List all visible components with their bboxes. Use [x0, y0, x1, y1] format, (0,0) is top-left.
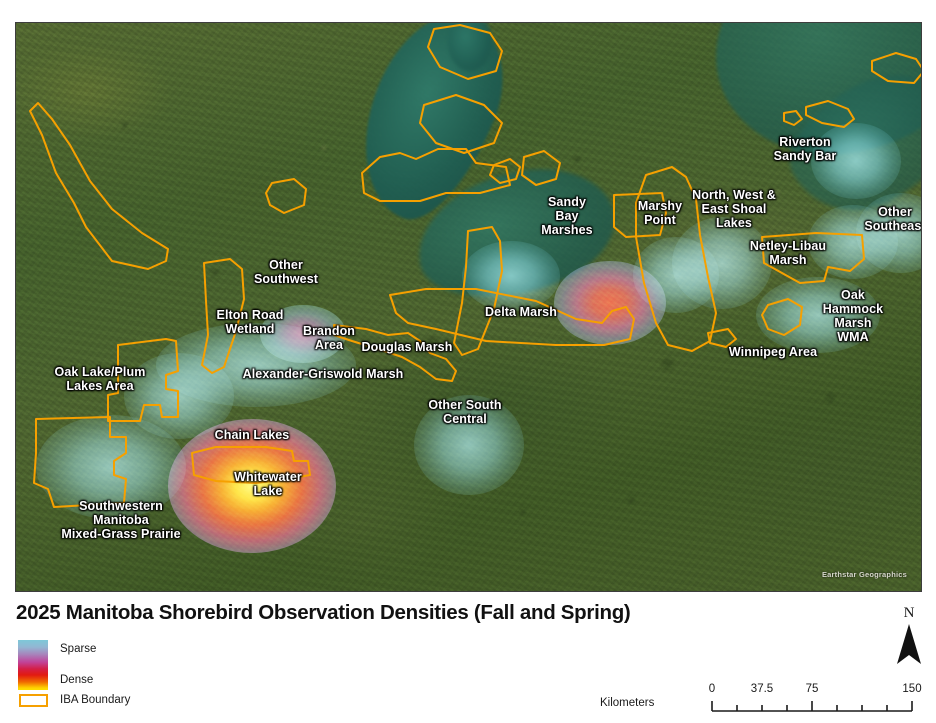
iba-polygon-shoal-lakes	[636, 167, 716, 351]
iba-polygon-riverton-sandy-bar-b	[784, 111, 802, 125]
iba-polygon-winnipeg-small	[708, 329, 736, 347]
scale-tick-150: 150	[902, 683, 921, 695]
scale-bar-graphic	[600, 699, 920, 717]
iba-boundary-swatch	[19, 694, 48, 707]
iba-polygon-sandy-bay-small-a	[490, 159, 520, 183]
iba-polygon-southwestern-mb	[34, 417, 126, 507]
legend-label-dense: Dense	[60, 674, 93, 686]
basemap-attribution: Earthstar Geographics	[822, 570, 907, 579]
iba-polygon-oak-hammock	[762, 299, 802, 335]
legend-label-iba-boundary: IBA Boundary	[60, 694, 130, 706]
iba-polygon-other-southwest-small	[266, 179, 306, 213]
iba-polygon-other-southeast	[762, 233, 864, 283]
iba-polygon-marshy-point	[614, 193, 666, 237]
north-arrow-icon	[896, 624, 922, 666]
density-ramp-gradient	[18, 640, 48, 690]
north-arrow: N	[892, 606, 926, 666]
iba-polygon-far-west	[30, 103, 168, 269]
iba-polygon-west-of-delta	[202, 259, 244, 373]
iba-polygon-delta-marsh	[390, 289, 634, 345]
map-canvas[interactable]: Riverton Sandy BarSandy Bay MarshesMarsh…	[16, 23, 921, 591]
iba-polygon-big-northwest	[362, 149, 510, 201]
iba-polygon-sandy-bay-north	[428, 25, 502, 79]
scale-tick-75: 75	[806, 683, 819, 695]
iba-polygon-riverton-north	[872, 53, 922, 83]
iba-polygon-sandy-bay-small-b	[522, 151, 560, 185]
iba-polygon-oak-lake-plum	[108, 339, 178, 421]
north-arrow-letter: N	[892, 606, 926, 621]
density-ramp	[18, 640, 48, 690]
iba-polygon-whitewater-lake	[192, 447, 310, 483]
scale-tick-0: 0	[709, 683, 715, 695]
iba-polygon-sandy-bay-mid	[420, 95, 502, 153]
scale-tick-37.5: 37.5	[751, 683, 773, 695]
map-frame[interactable]: Riverton Sandy BarSandy Bay MarshesMarsh…	[15, 22, 922, 592]
legend-label-sparse: Sparse	[60, 643, 96, 655]
page-title: 2025 Manitoba Shorebird Observation Dens…	[16, 601, 630, 625]
scale-bar: Kilometers 037.575150	[600, 683, 920, 719]
iba-polygon-riverton-sandy-bar-a	[806, 101, 854, 127]
iba-polygon-douglas-marsh	[334, 325, 456, 381]
iba-boundary-layer	[16, 23, 922, 592]
